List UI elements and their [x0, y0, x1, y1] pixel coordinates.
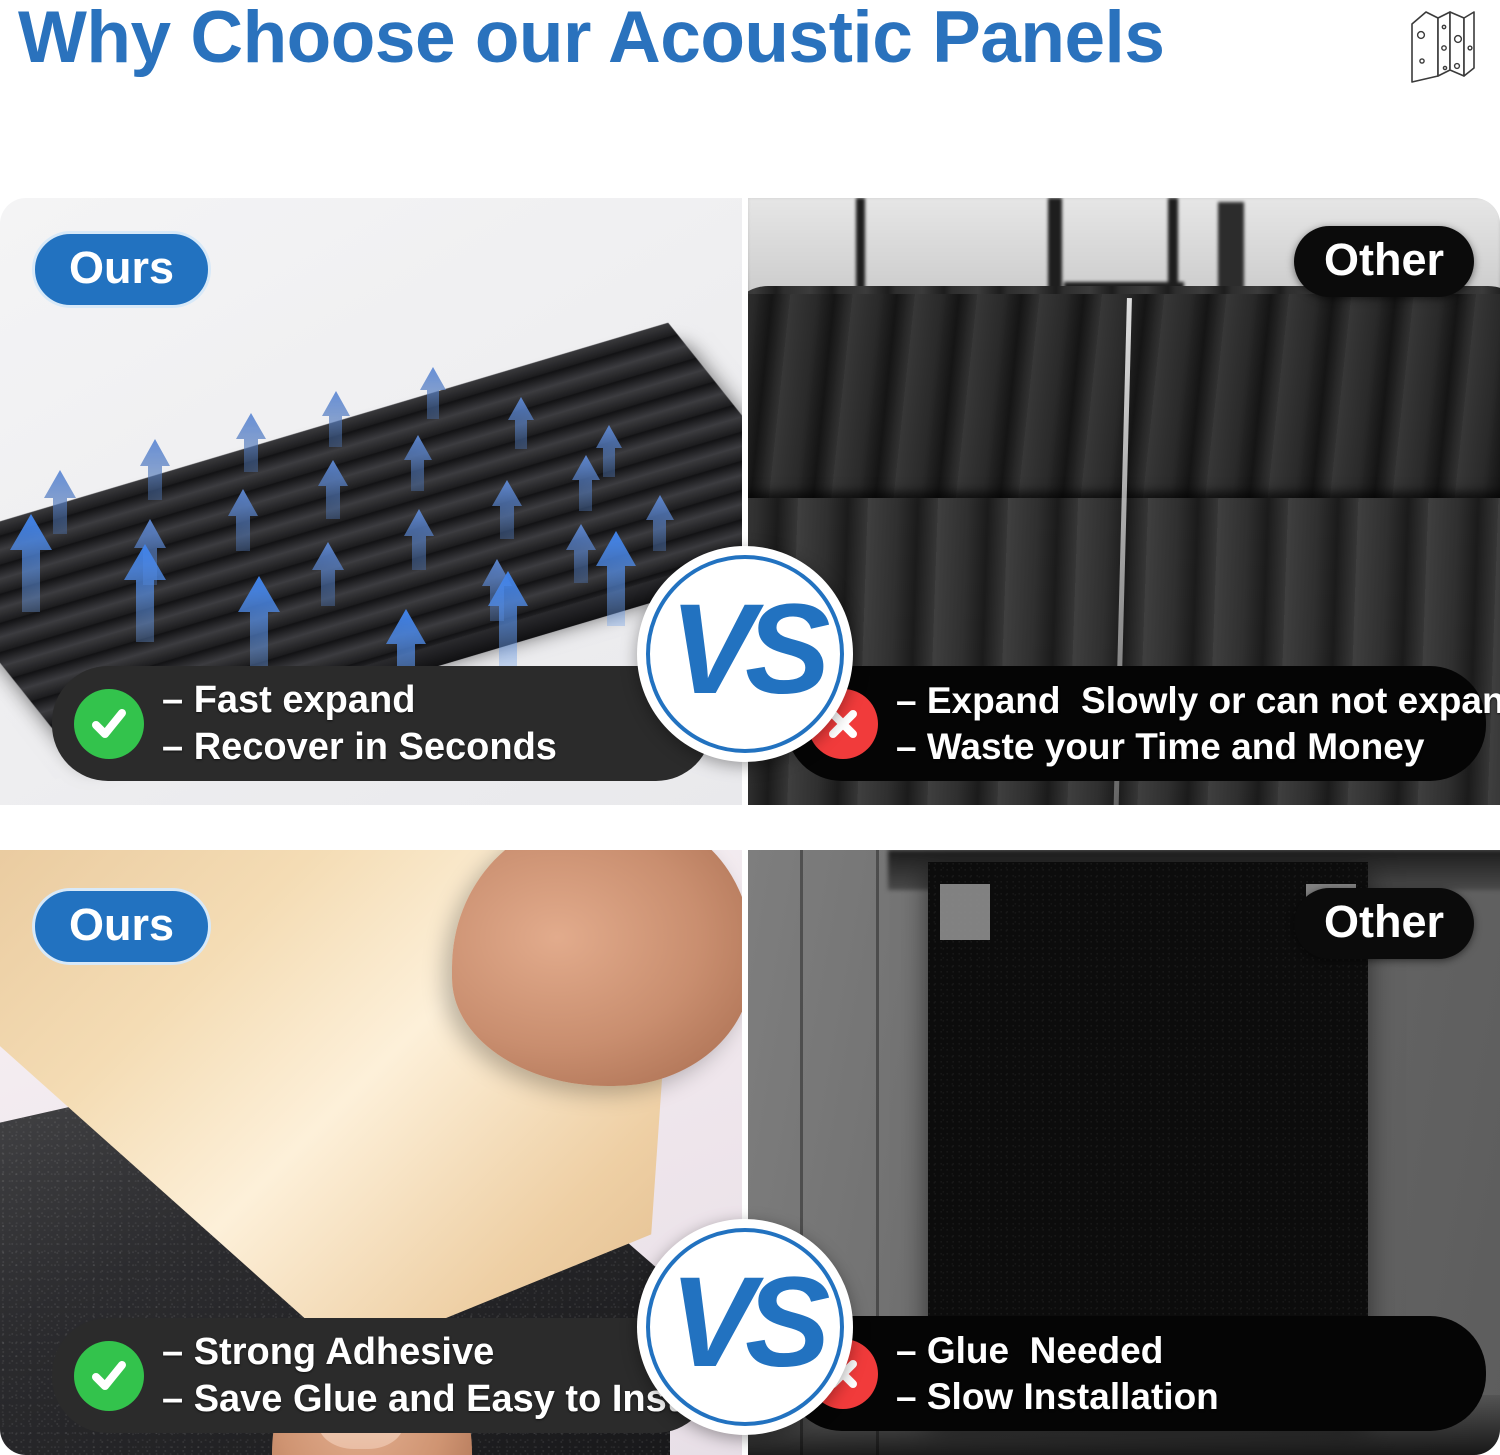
caption-lines-top-right: – Expand Slowly or can not expand – Wast… [896, 679, 1500, 768]
hand-peeling [452, 850, 742, 1086]
panel-bottom-right: Other – Glue Needed – Slow Installation [748, 850, 1500, 1455]
badge-ours-top-left: Ours [32, 231, 211, 308]
caption-top-left: – Fast expand – Recover in Seconds [52, 666, 712, 781]
page-title: Why Choose our Acoustic Panels [18, 0, 1164, 79]
caption-line: – Recover in Seconds [162, 725, 557, 770]
caption-lines-bottom-right: – Glue Needed – Slow Installation [896, 1329, 1219, 1418]
caption-line: – Slow Installation [896, 1375, 1219, 1419]
caption-line: – Waste your Time and Money [896, 725, 1500, 769]
panel-top-right: Other – Expand Slowly or can not expand … [748, 198, 1500, 805]
comparison-grid: Ours – Fast expand – Recover in Seconds [0, 198, 1500, 1455]
caption-lines-top-left: – Fast expand – Recover in Seconds [162, 678, 557, 770]
caption-bottom-right: – Glue Needed – Slow Installation [786, 1316, 1486, 1431]
caption-line: – Save Glue and Easy to Install [162, 1377, 722, 1422]
caption-line: – Glue Needed [896, 1329, 1219, 1373]
vs-badge-icon-top: VS [637, 546, 853, 762]
vs-badge-icon-bottom: VS [637, 1219, 853, 1435]
adhesive-square [940, 884, 990, 940]
page-header: Why Choose our Acoustic Panels [0, 0, 1500, 185]
badge-other-top-right: Other [1294, 226, 1474, 297]
panel-bottom-left: Ours – Strong Adhesive – Save Glue and E… [0, 850, 742, 1455]
acoustic-panel-icon [1404, 4, 1480, 90]
vs-label: VS [670, 1259, 821, 1387]
badge-ours-bottom-left: Ours [32, 888, 211, 965]
caption-bottom-left: – Strong Adhesive – Save Glue and Easy t… [52, 1318, 712, 1433]
badge-other-bottom-right: Other [1294, 888, 1474, 959]
panel-top-left: Ours – Fast expand – Recover in Seconds [0, 198, 742, 805]
vs-label: VS [670, 586, 821, 714]
caption-top-right: – Expand Slowly or can not expand – Wast… [786, 666, 1486, 781]
check-icon [74, 689, 144, 759]
caption-line: – Fast expand [162, 678, 557, 723]
caption-line: – Expand Slowly or can not expand [896, 679, 1500, 723]
check-icon [74, 1341, 144, 1411]
